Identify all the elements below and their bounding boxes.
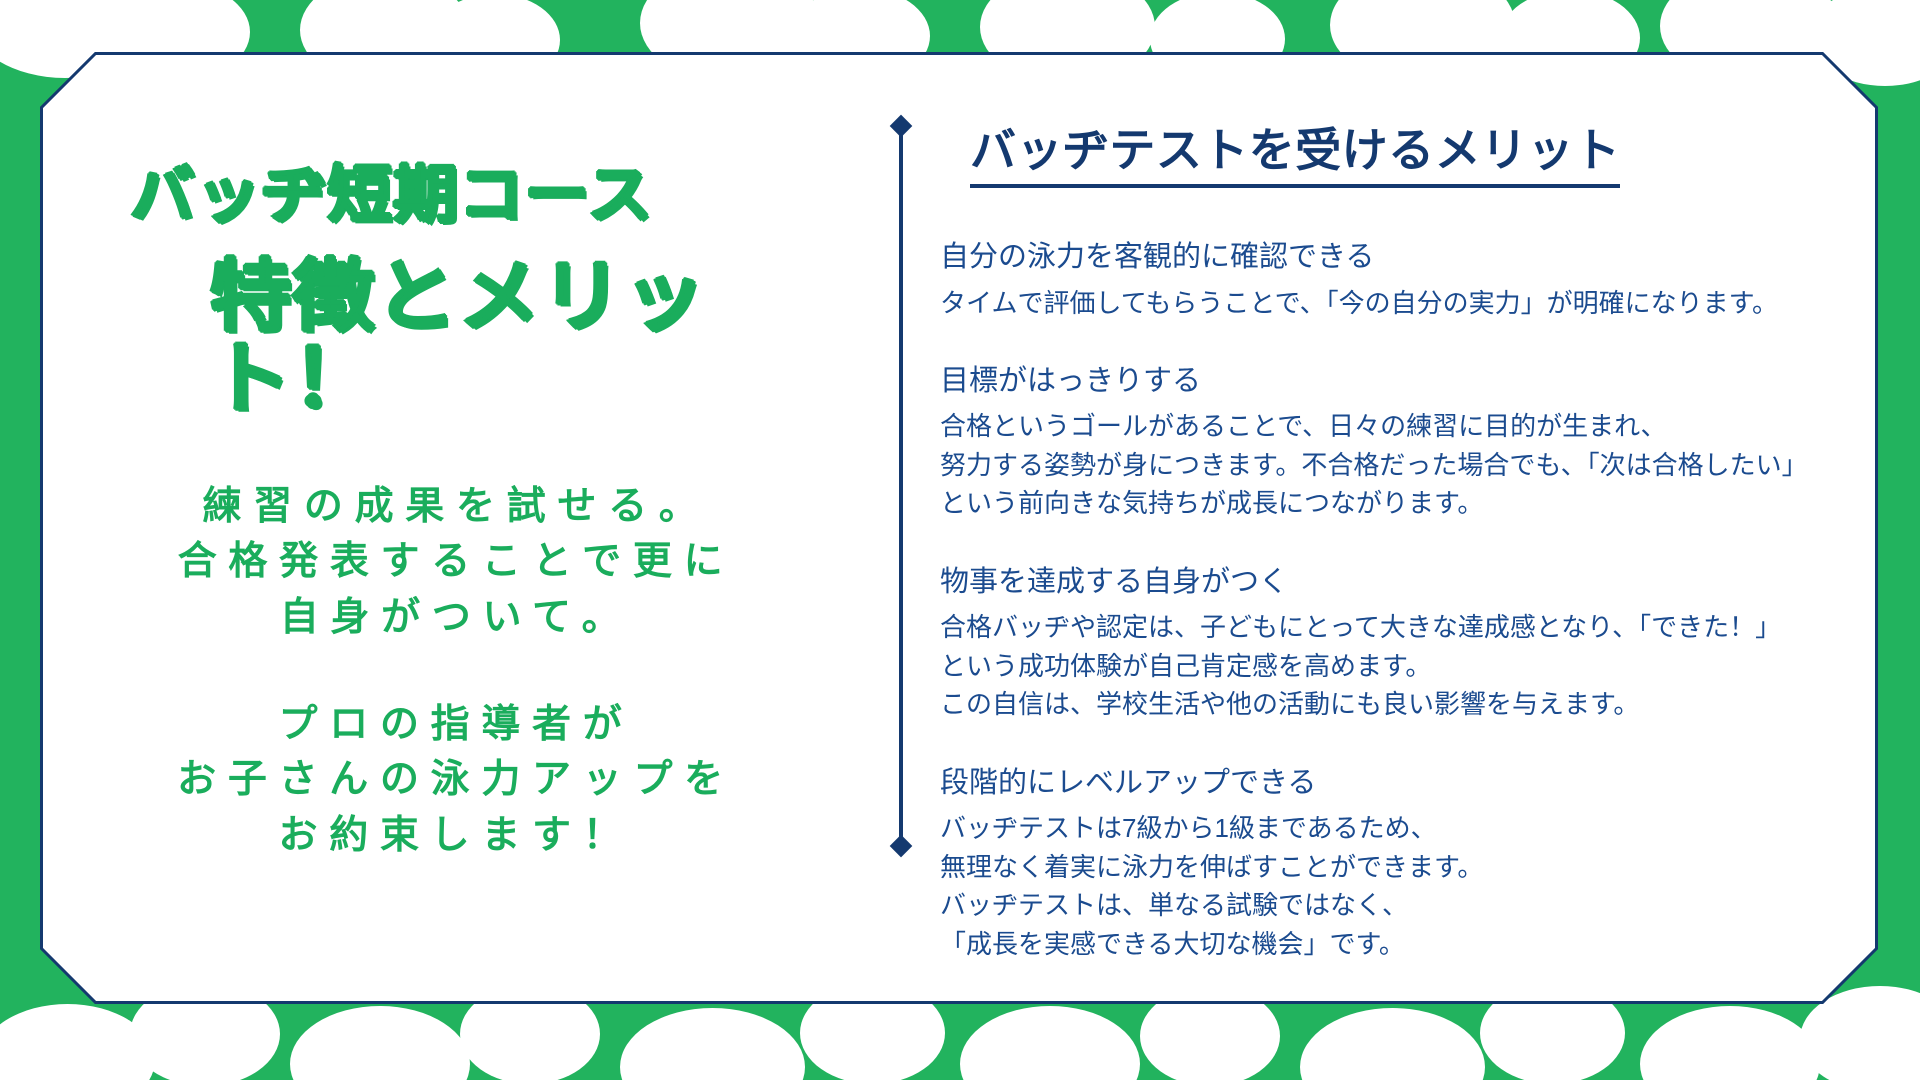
- benefit-section: 物事を達成する自身がつく 合格バッヂや認定は、子どもにとって大きな達成感となり、…: [940, 561, 1808, 724]
- green-text-line: 合格発表することで更に: [100, 534, 812, 589]
- green-text-line: 練習の成果を試せる。: [100, 479, 812, 534]
- cloud-shape: [1640, 1006, 1820, 1080]
- cloud-shape: [290, 1006, 470, 1080]
- benefit-line: 合格というゴールがあることで、日々の練習に目的が生まれ、: [940, 407, 1808, 445]
- benefit-line: という前向きな気持ちが成長につながります。: [940, 484, 1808, 522]
- right-column: バッヂテストを受けるメリット 自分の泳力を客観的に確認できる タイムで評価しても…: [870, 52, 1878, 1004]
- cloud-shape: [1300, 1008, 1485, 1080]
- benefit-title: 目標がはっきりする: [940, 360, 1808, 404]
- rule-line: [899, 128, 903, 844]
- cloud-shape: [960, 1006, 1140, 1080]
- card-content: バッヂ短期コース 特徴とメリット！ 練習の成果を試せる。 合格発表することで更に…: [40, 52, 1878, 1004]
- green-text-line: 自身がついて。: [100, 590, 812, 645]
- benefit-line: 無理なく着実に泳力を伸ばすことができます。: [940, 848, 1808, 886]
- benefit-section: 自分の泳力を客観的に確認できる タイムで評価してもらうことで、「今の自分の実力」…: [940, 236, 1808, 322]
- benefit-section: 目標がはっきりする 合格というゴールがあることで、日々の練習に目的が生まれ、 努…: [940, 360, 1808, 523]
- merit-heading: 特徴とメリット！: [210, 257, 855, 421]
- green-text-line: プロの指導者が: [100, 697, 812, 752]
- benefit-line: という成功体験が自己肯定感を高めます。: [940, 647, 1808, 685]
- benefit-line: 「成長を実感できる大切な機会」です。: [940, 925, 1808, 963]
- vertical-rule: [888, 118, 914, 854]
- green-text-block-2: プロの指導者が お子さんの泳力アップを お約束します！: [100, 697, 830, 863]
- benefit-line: 合格バッヂや認定は、子どもにとって大きな達成感となり、「できた！」: [940, 608, 1808, 646]
- green-text-line: お約束します！: [100, 808, 812, 863]
- benefit-title: 自分の泳力を客観的に確認できる: [940, 236, 1808, 280]
- benefit-line: バッヂテストは7級から1級まであるため、: [940, 809, 1808, 847]
- course-heading: バッヂ短期コース: [130, 162, 858, 227]
- benefit-line: タイムで評価してもらうことで、「今の自分の実力」が明確になります。: [940, 284, 1808, 322]
- diamond-icon: [890, 835, 913, 858]
- benefits-heading: バッヂテストを受けるメリット: [970, 114, 1620, 188]
- benefit-title: 段階的にレベルアップできる: [940, 762, 1808, 806]
- slide-canvas: バッヂ短期コース 特徴とメリット！ 練習の成果を試せる。 合格発表することで更に…: [0, 0, 1920, 1080]
- benefit-section: 段階的にレベルアップできる バッヂテストは7級から1級まであるため、 無理なく着…: [940, 762, 1808, 963]
- left-column: バッヂ短期コース 特徴とメリット！ 練習の成果を試せる。 合格発表することで更に…: [40, 52, 870, 1004]
- green-text-block-1: 練習の成果を試せる。 合格発表することで更に 自身がついて。: [100, 479, 830, 645]
- benefit-sections: 自分の泳力を客観的に確認できる タイムで評価してもらうことで、「今の自分の実力」…: [926, 236, 1808, 963]
- green-text-line: お子さんの泳力アップを: [100, 752, 812, 807]
- benefit-line: 努力する姿勢が身につきます。不合格だった場合でも、「次は合格したい」: [940, 446, 1808, 484]
- benefit-line: バッヂテストは、単なる試験ではなく、: [940, 886, 1808, 924]
- cloud-band-bottom: [0, 1012, 1920, 1080]
- cloud-shape: [620, 1008, 805, 1080]
- benefit-line: この自信は、学校生活や他の活動にも良い影響を与えます。: [940, 685, 1808, 723]
- benefit-title: 物事を達成する自身がつく: [940, 561, 1808, 605]
